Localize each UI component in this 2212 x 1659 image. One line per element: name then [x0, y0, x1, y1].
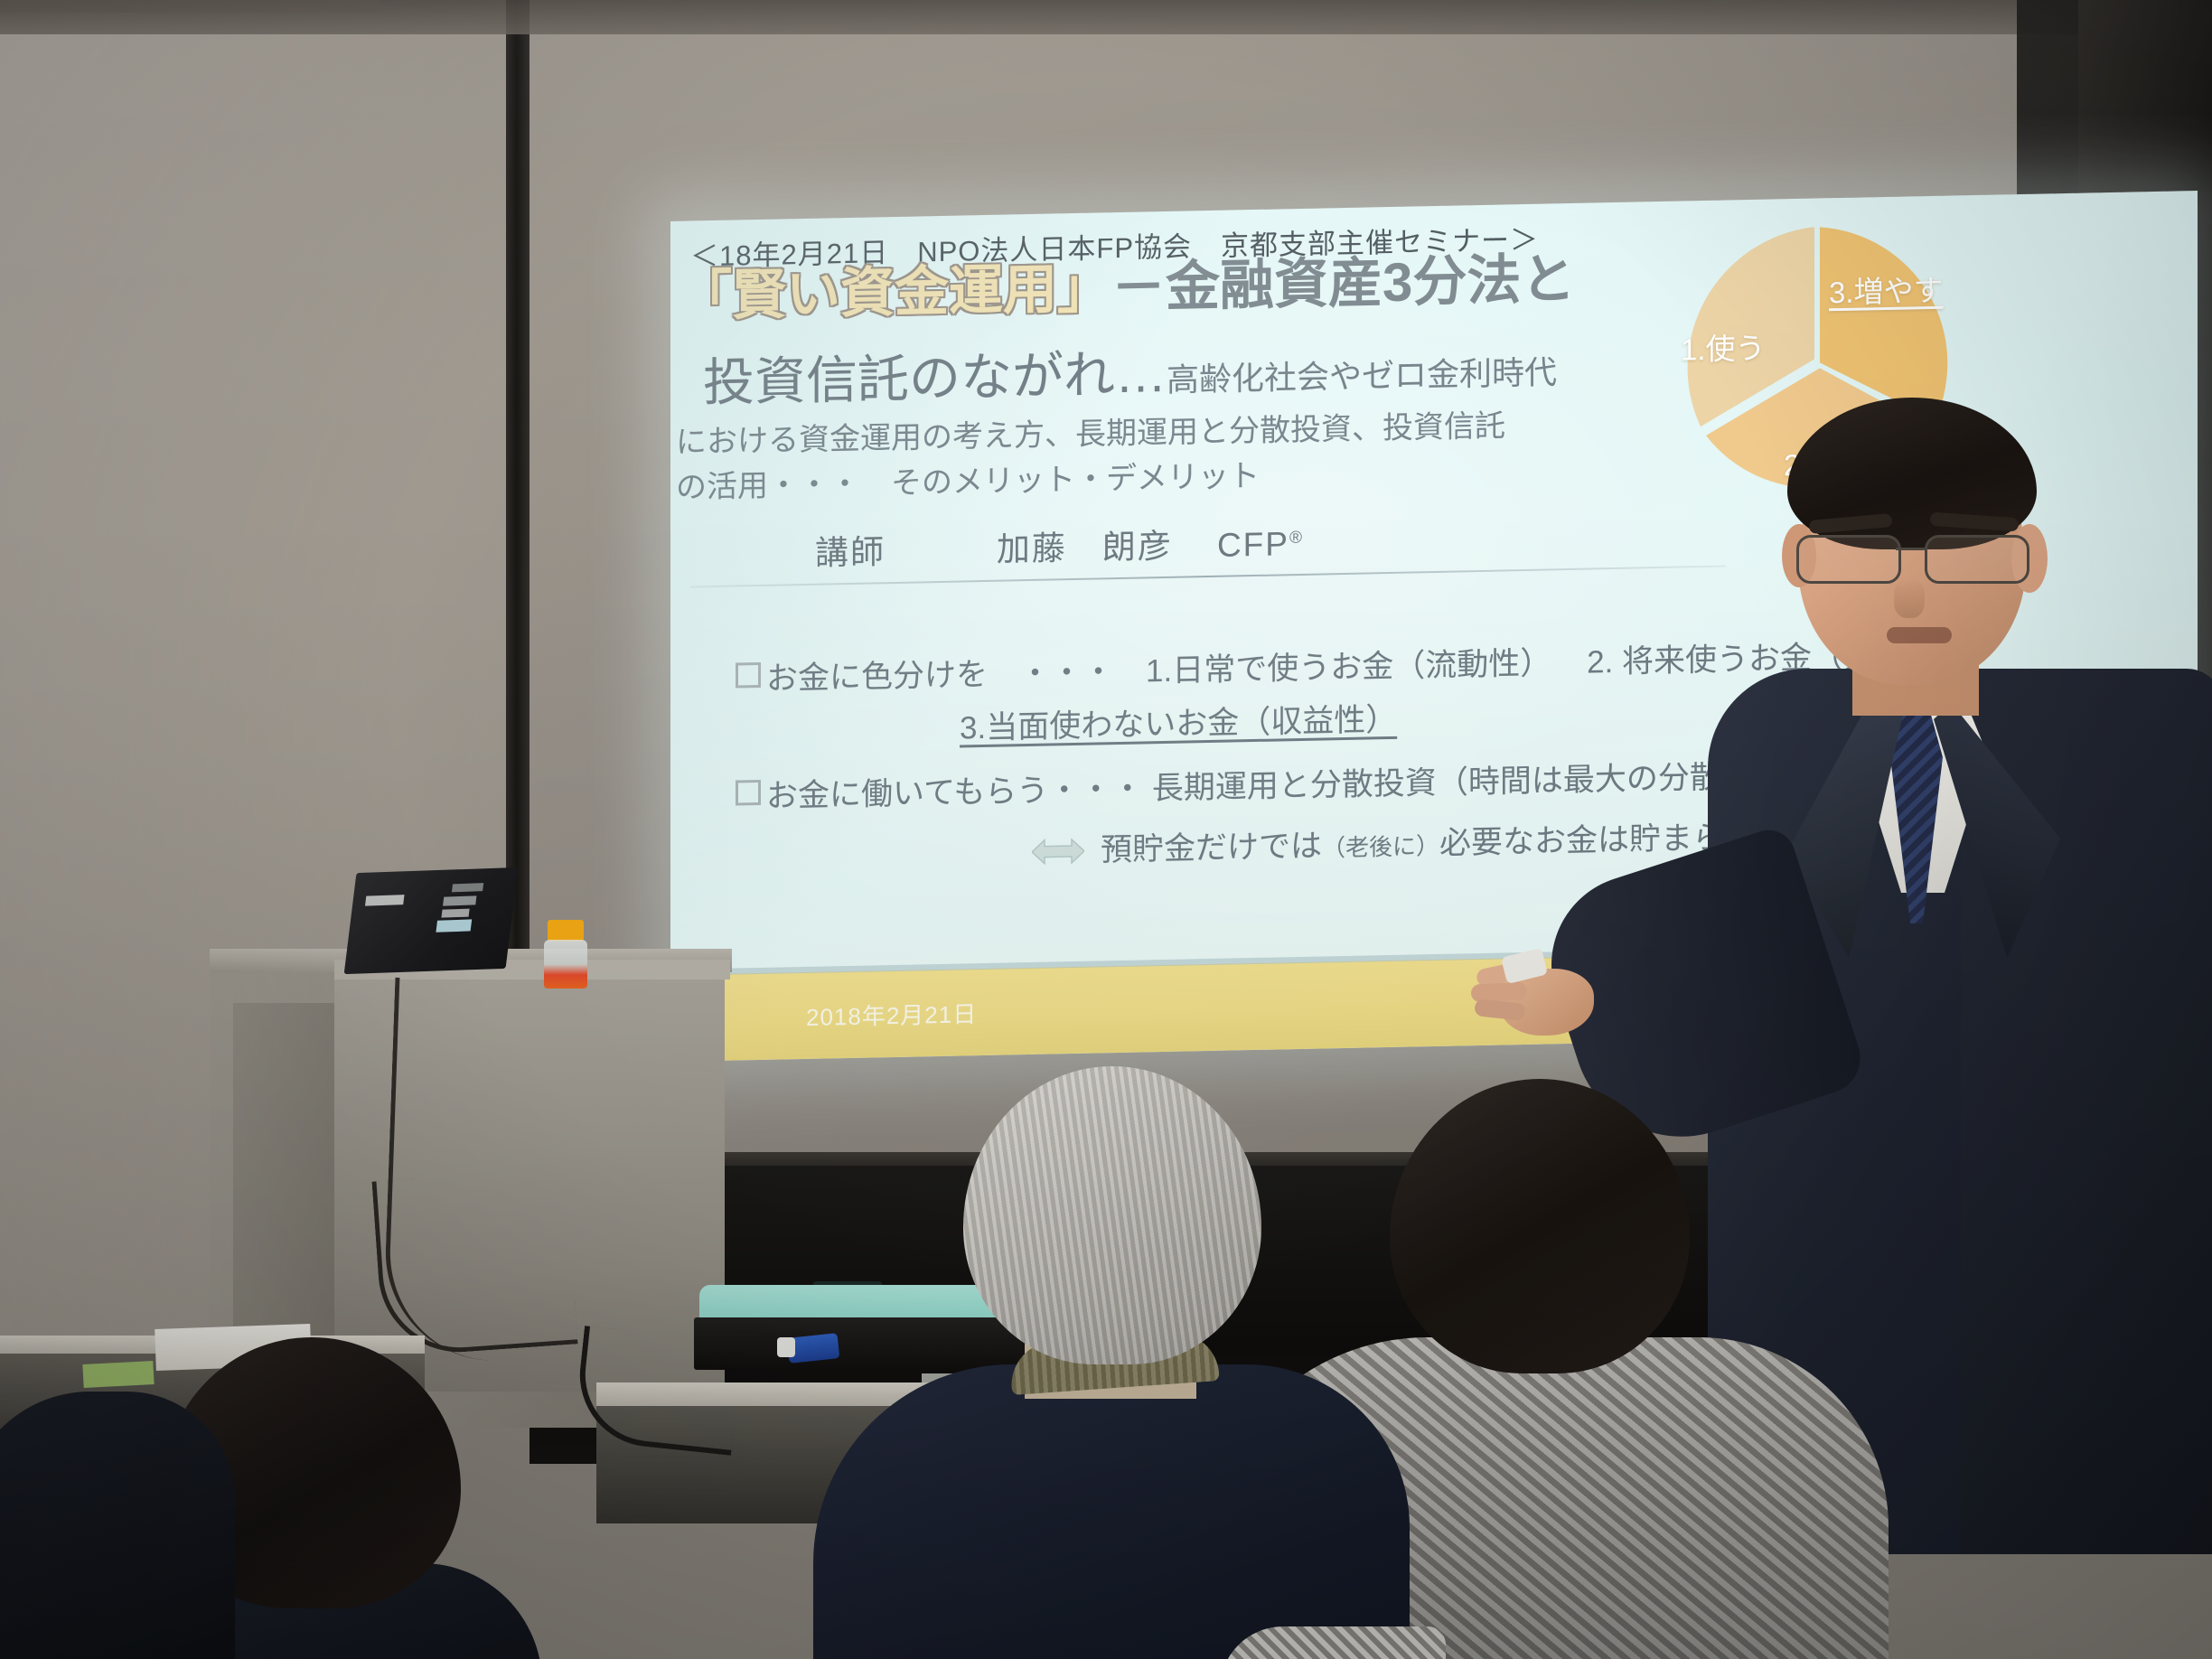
audience-hair — [963, 1066, 1261, 1364]
glasses-lens-left — [1796, 535, 1901, 584]
presenter-mouth — [1887, 627, 1952, 643]
audience-head — [963, 1066, 1261, 1364]
bottle-body — [544, 940, 587, 989]
screenshot-root: ＜18年2月21日 NPO法人日本FP協会 京都支部主催セミナー＞ 「賢い資金運… — [0, 0, 2212, 1659]
podium-side — [233, 1003, 334, 1364]
laptop-sticker — [452, 883, 483, 892]
glasses-lens-right — [1925, 535, 2029, 584]
laptop-sticker — [365, 895, 405, 905]
audience-grey-hair — [795, 1066, 1428, 1659]
wall-vent — [0, 0, 380, 13]
bottle-cap — [548, 920, 584, 942]
drink-bottle — [540, 920, 591, 989]
laptop — [344, 867, 519, 974]
laptop-sticker — [441, 909, 469, 918]
vga-connector-head — [777, 1337, 795, 1357]
audience-head — [1390, 1079, 1690, 1373]
audience-far-left — [0, 1392, 235, 1659]
presenter-hand — [1478, 949, 1614, 1048]
glasses-icon — [1791, 531, 2037, 584]
presenter-nose — [1894, 578, 1925, 618]
glasses-bridge — [1896, 548, 1926, 550]
power-cable-lower — [371, 1168, 577, 1358]
laptop-sticker — [443, 895, 476, 905]
audience-sweater — [813, 1364, 1410, 1659]
laptop-sticker — [436, 919, 472, 932]
